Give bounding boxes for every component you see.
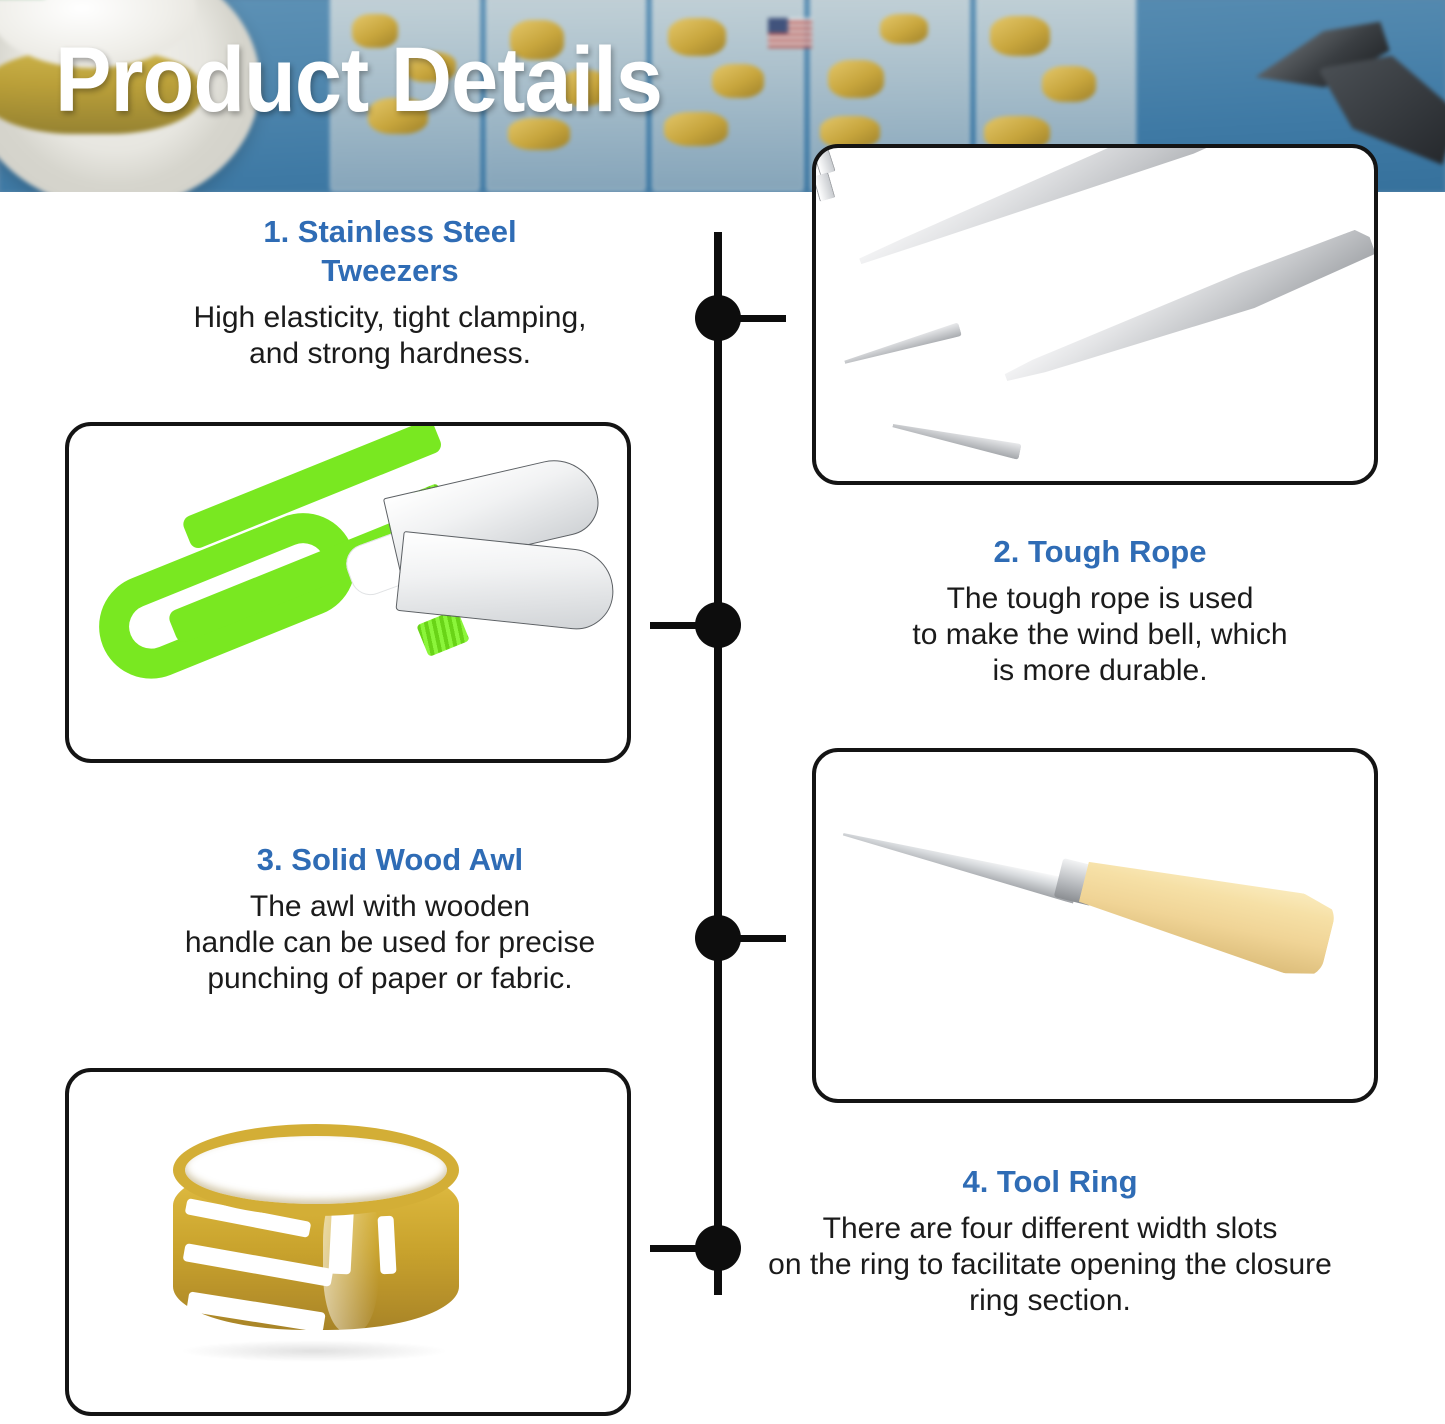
tweezer-straight-tip <box>843 322 962 369</box>
awl-wood-handle <box>1074 841 1338 982</box>
awl-photo-content <box>816 752 1374 1099</box>
gold-findings <box>668 18 726 56</box>
gold-findings <box>828 60 884 98</box>
item-2-text-block: 2. Tough Rope The tough rope is used to … <box>830 532 1370 689</box>
ring-opening <box>173 1124 459 1216</box>
gold-findings <box>880 14 928 44</box>
gold-findings <box>1042 66 1096 102</box>
item-4-description: There are four different width slots on … <box>700 1211 1400 1319</box>
item-3-description: The awl with wooden handle can be used f… <box>120 889 660 997</box>
item-2-heading: 2. Tough Rope <box>830 532 1370 571</box>
item-3-text-block: 3. Solid Wood Awl The awl with wooden ha… <box>120 840 660 997</box>
timeline-tick-1-right <box>738 315 786 322</box>
gold-findings <box>664 112 728 146</box>
item-4-heading: 4. Tool Ring <box>700 1162 1400 1201</box>
item-1-heading: 1. Stainless Steel Tweezers <box>110 212 670 290</box>
tweezers-photo-content <box>816 148 1374 481</box>
item-1-text-block: 1. Stainless Steel Tweezers High elastic… <box>110 212 670 372</box>
flag-patch <box>768 18 812 48</box>
timeline-tick-2-left <box>650 622 698 629</box>
gold-findings <box>712 64 764 98</box>
timeline-node-3 <box>695 915 741 961</box>
tweezer-curved-band <box>813 172 836 201</box>
snips-photo-content <box>69 426 627 759</box>
snips-photo <box>65 422 631 763</box>
awl-steel-point <box>840 822 1079 903</box>
item-3-heading: 3. Solid Wood Awl <box>120 840 660 879</box>
tweezers-photo <box>812 144 1378 485</box>
timeline-tick-3-right <box>738 935 786 942</box>
gold-findings <box>990 16 1050 56</box>
item-1-description: High elasticity, tight clamping, and str… <box>110 300 670 372</box>
ring-slot <box>377 1216 396 1275</box>
timeline-node-1 <box>695 295 741 341</box>
ring-photo-content <box>69 1072 627 1412</box>
timeline-tick-4-left <box>650 1245 698 1252</box>
brass-ring <box>173 1124 459 1360</box>
tweezer-curved <box>999 226 1378 397</box>
snips-lower-blade <box>395 531 617 633</box>
timeline-spine <box>714 232 722 1295</box>
item-4-text-block: 4. Tool Ring There are four different wi… <box>700 1162 1400 1319</box>
tweezer-straight-band <box>812 146 835 176</box>
tweezer-straight <box>852 144 1334 281</box>
tweezer-curved-tip <box>891 417 1021 460</box>
page-title: Product Details <box>55 30 662 130</box>
product-details-infographic: Product Details 1. Stainless Steel Tweez… <box>0 0 1445 1424</box>
item-2-description: The tough rope is used to make the wind … <box>830 581 1370 689</box>
ring-photo <box>65 1068 631 1416</box>
timeline-node-2 <box>695 602 741 648</box>
awl-photo <box>812 748 1378 1103</box>
